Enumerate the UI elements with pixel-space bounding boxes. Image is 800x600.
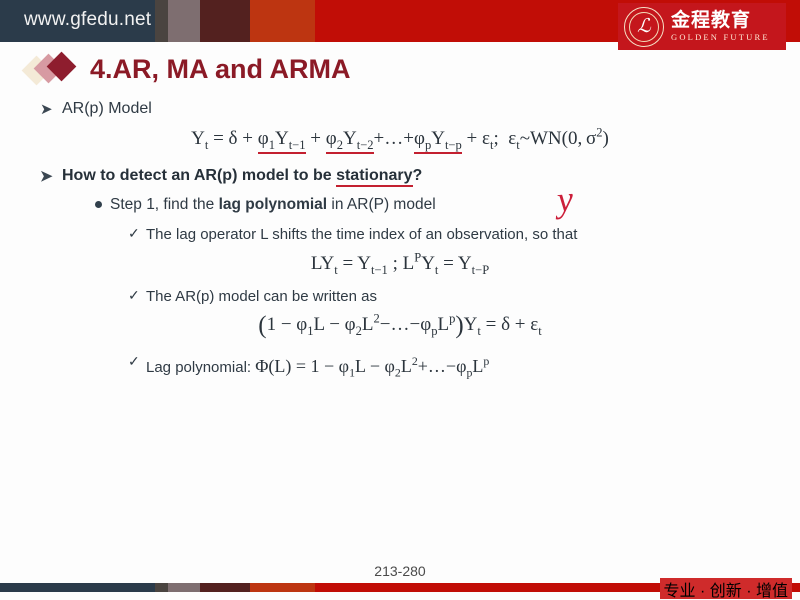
bullet-how-to-detect-keyword: stationary	[336, 167, 412, 187]
subbullet-step-1-prefix: Step 1, find the	[110, 196, 219, 213]
arrow-bullet-icon: ➤	[40, 100, 53, 118]
check-arp-written-as-label: The AR(p) model can be written as	[146, 288, 377, 305]
color-band-4	[200, 0, 250, 42]
subbullet-step-1-keyword: lag polynomial	[219, 196, 328, 213]
round-bullet-icon	[95, 201, 102, 208]
color-band-2	[155, 583, 168, 592]
equation-ar-p-text: Yt = δ + φ1Yt−1 + φ2Yt−2+…+φpYt−p + εt; …	[191, 128, 609, 149]
bullet-how-to-detect-prefix: How to detect an AR(p) model to be	[62, 167, 336, 184]
subbullet-step-1: Step 1, find the lag polynomial in AR(P)…	[0, 196, 800, 214]
equation-ar-p-definition: Yt = δ + φ1Yt−1 + φ2Yt−2+…+φpYt−p + εt; …	[0, 126, 800, 153]
check-icon-3: ✓	[128, 353, 140, 370]
color-band-3	[168, 0, 200, 42]
check-lag-operator-label: The lag operator L shifts the time index…	[146, 226, 577, 243]
check-lag-operator: ✓ The lag operator L shifts the time ind…	[0, 226, 800, 243]
equation-lag-operator-text: LYt = Yt−1 ; LPYt = Yt−P	[311, 253, 489, 274]
bullet-ar-p-model: ➤ AR(p) Model	[0, 100, 800, 118]
check-lag-polynomial: ✓ Lag polynomial: Φ(L) = 1 − φ1L − φ2L2+…	[0, 354, 800, 381]
equation-lag-polynomial-text: Φ(L) = 1 − φ1L − φ2L2+…−φpLp	[255, 356, 489, 376]
equation-arp-polynomial-form: (1 − φ1L − φ2L2−…−φpLp)Yt = δ + εt	[0, 311, 800, 339]
logo-text-block: 金程教育 GOLDEN FUTURE	[671, 11, 770, 43]
footer-slogan-text: 专业 · 创新 · 增值	[664, 577, 788, 600]
bullet-how-to-detect: ➤ How to detect an AR(p) model to be sta…	[0, 167, 800, 185]
check-arp-written-as: ✓ The AR(p) model can be written as	[0, 288, 800, 305]
check-icon-1: ✓	[128, 225, 140, 242]
arrow-bullet-icon-2: ➤	[40, 167, 53, 185]
color-band-5	[250, 583, 315, 592]
subbullet-step-1-suffix: in AR(P) model	[327, 196, 436, 213]
slide-canvas: www.gfedu.net ℒ 金程教育 GOLDEN FUTURE 4.AR,…	[0, 0, 800, 600]
page-title: 4.AR, MA and ARMA	[90, 54, 351, 85]
footer-slogan: 专业 · 创新 · 增值	[660, 578, 792, 599]
logo-name-en: GOLDEN FUTURE	[671, 32, 770, 42]
check-icon-2: ✓	[128, 287, 140, 304]
color-band-3	[168, 583, 200, 592]
color-band-5	[250, 0, 315, 42]
bullet-ar-p-model-label: AR(p) Model	[62, 100, 152, 117]
equation-lag-operator: LYt = Yt−1 ; LPYt = Yt−P	[0, 251, 800, 278]
logo-monogram: ℒ	[637, 17, 651, 36]
color-band-4	[200, 583, 250, 592]
slide-title-row: 4.AR, MA and ARMA	[26, 52, 351, 86]
brand-logo: ℒ 金程教育 GOLDEN FUTURE	[618, 3, 786, 50]
bullet-how-to-detect-suffix: ?	[413, 167, 423, 184]
equation-arp-polynomial-form-text: (1 − φ1L − φ2L2−…−φpLp)Yt = δ + εt	[258, 314, 541, 335]
slide-body: ➤ AR(p) Model Yt = δ + φ1Yt−1 + φ2Yt−2+……	[0, 100, 800, 380]
title-diamond-decoration	[26, 52, 82, 86]
check-lag-polynomial-label: Lag polynomial:	[146, 359, 255, 376]
logo-seal-icon: ℒ	[624, 7, 664, 47]
header-website-url: www.gfedu.net	[24, 9, 151, 31]
logo-name-cn: 金程教育	[671, 11, 770, 31]
color-band-1	[0, 583, 155, 592]
color-band-2	[155, 0, 168, 42]
